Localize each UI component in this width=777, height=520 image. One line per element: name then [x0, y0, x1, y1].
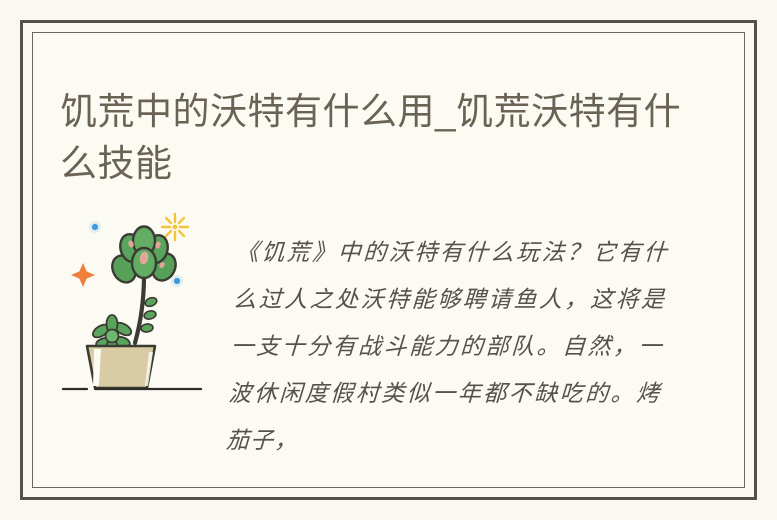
article-content: 《饥荒》中的沃特有什么玩法？它有什么过人之处沃特能够聘请鱼人，这将是一支十分有战…: [33, 185, 744, 487]
article-frame-inner: 饥荒中的沃特有什么用_饥荒沃特有什么技能: [32, 32, 745, 488]
dot-blue-upper-icon: [89, 221, 101, 233]
flower-pot: [87, 346, 155, 388]
flower-stem: [135, 276, 144, 343]
potted-flower-svg: [61, 203, 233, 393]
page-title: 饥荒中的沃特有什么用_饥荒沃特有什么技能: [60, 86, 690, 190]
article-body-text: 《饥荒》中的沃特有什么玩法？它有什么过人之处沃特能够聘请鱼人，这将是一支十分有战…: [225, 230, 669, 465]
sparkle-yellow-icon: [162, 214, 188, 240]
article-frame-outer: 饥荒中的沃特有什么用_饥荒沃特有什么技能: [20, 20, 757, 500]
sparkle-orange-icon: [71, 263, 95, 287]
page-root: 饥荒中的沃特有什么用_饥荒沃特有什么技能: [0, 0, 777, 520]
potted-flower-illustration: [61, 203, 233, 393]
dot-blue-right-icon: [171, 275, 183, 287]
